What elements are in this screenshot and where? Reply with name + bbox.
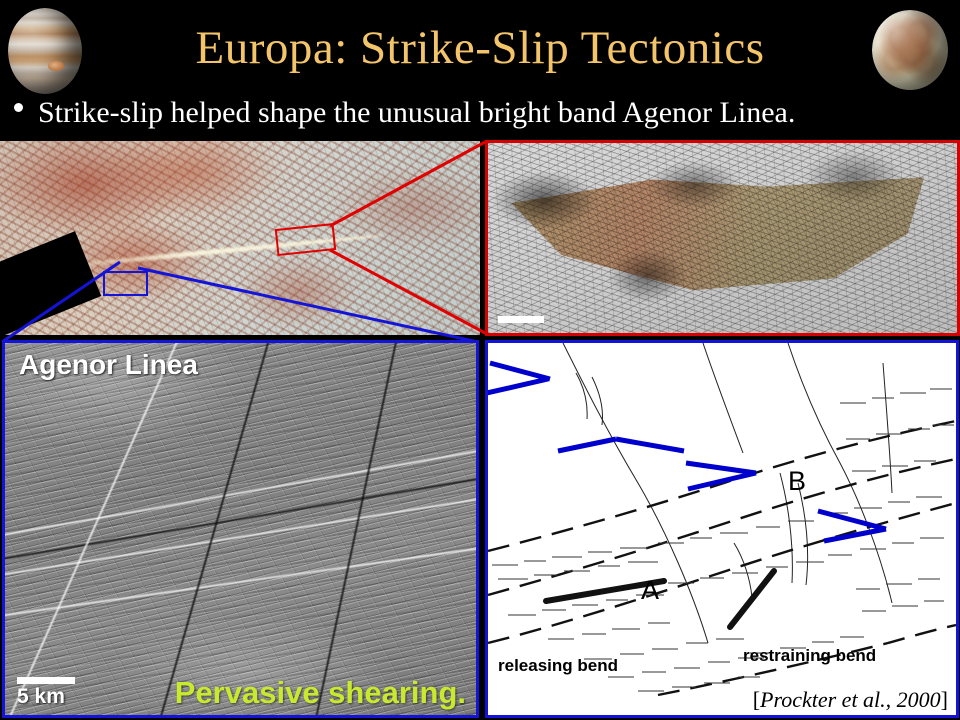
panel-agenor-regional-mosaic bbox=[485, 140, 960, 336]
scale-bar-label: 5 km bbox=[17, 685, 75, 709]
bullet-line: Strike-slip helped shape the unusual bri… bbox=[0, 94, 960, 138]
scale-bar: 5 km bbox=[17, 677, 75, 709]
label-releasing-bend: releasing bend bbox=[498, 656, 618, 676]
scale-bar-icon bbox=[498, 316, 544, 323]
agenor-closeup-image bbox=[5, 343, 476, 715]
bullet-text: Strike-slip helped shape the unusual bri… bbox=[38, 92, 953, 134]
citation-close: ] bbox=[941, 687, 948, 712]
label-region-a: A bbox=[641, 575, 659, 606]
agenor-linea-label: Agenor Linea bbox=[19, 349, 198, 381]
scale-bar-icon bbox=[17, 677, 75, 684]
citation: [Prockter et al., 2000] bbox=[753, 687, 948, 713]
pervasive-shearing-annotation: Pervasive shearing. bbox=[175, 675, 466, 711]
label-region-b: B bbox=[788, 466, 806, 497]
bullet-marker-icon bbox=[14, 103, 23, 112]
panel-agenor-closeup: Agenor Linea 5 km Pervasive shearing. bbox=[2, 340, 479, 718]
page-title: Europa: Strike-Slip Tectonics bbox=[0, 20, 960, 76]
blue-inset-box bbox=[103, 271, 148, 296]
panel-regional-color-mosaic bbox=[0, 141, 480, 335]
panel-structural-map: B A releasing bend restraining bend [Pro… bbox=[485, 340, 959, 718]
citation-open: [ bbox=[753, 687, 760, 712]
slide: Europa: Strike-Slip Tectonics Strike-sli… bbox=[0, 0, 960, 720]
citation-text: Prockter et al., 2000 bbox=[760, 687, 941, 712]
label-restraining-bend: restraining bend bbox=[743, 646, 876, 666]
slide-header: Europa: Strike-Slip Tectonics bbox=[0, 0, 960, 95]
